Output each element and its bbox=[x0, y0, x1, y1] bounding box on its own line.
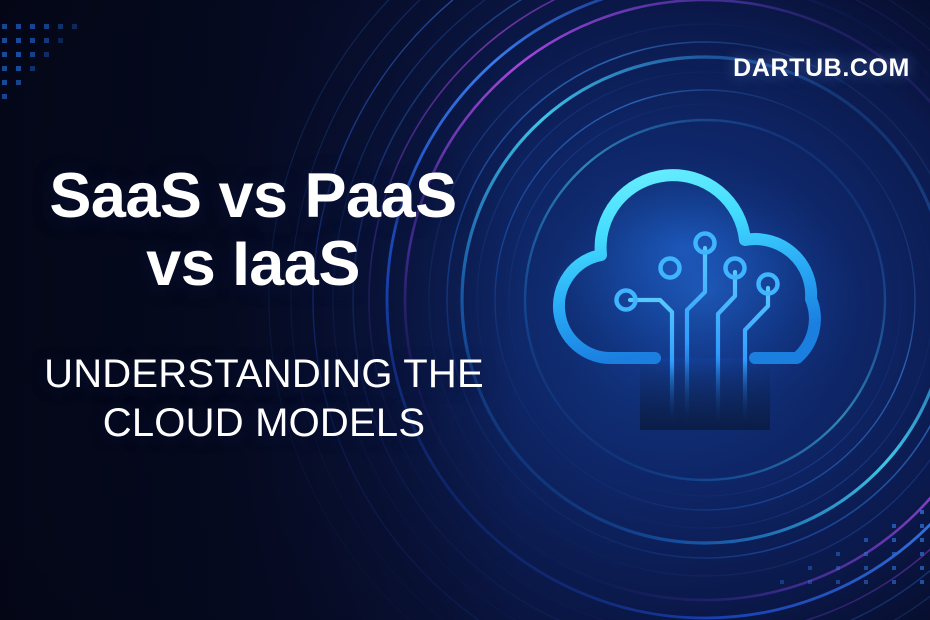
background-vignette bbox=[0, 0, 930, 620]
page-subtitle: UNDERSTANDING THE CLOUD MODELS bbox=[0, 350, 528, 448]
brand-watermark: DARTUB.COM bbox=[733, 56, 910, 81]
page-title: SaaS vs PaaS vs IaaS bbox=[0, 162, 506, 298]
cloud-models-banner: DARTUB.COM SaaS vs PaaS vs IaaS UNDERSTA… bbox=[0, 0, 930, 620]
page-title-line-2: vs IaaS bbox=[0, 230, 506, 298]
page-subtitle-line-1: UNDERSTANDING THE bbox=[0, 350, 528, 399]
page-title-line-1: SaaS vs PaaS bbox=[0, 162, 506, 230]
page-subtitle-line-2: CLOUD MODELS bbox=[0, 399, 528, 448]
